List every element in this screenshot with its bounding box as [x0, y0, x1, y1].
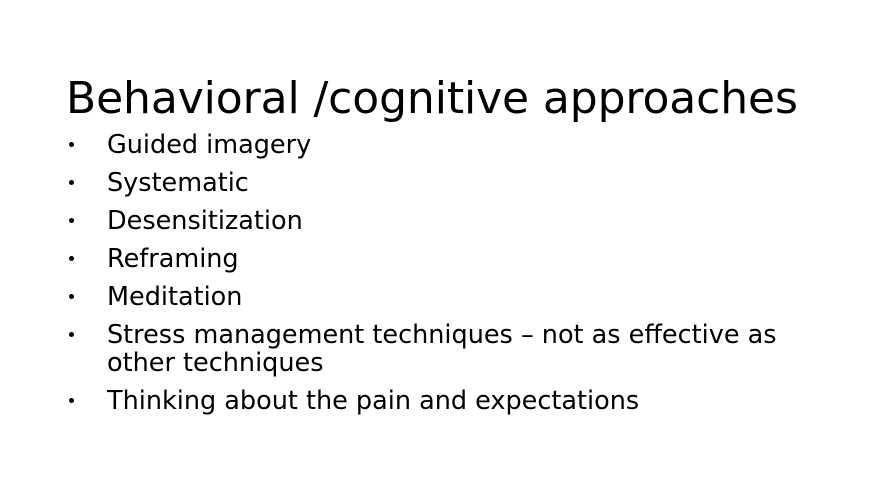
bullet-list-item: Thinking about the pain and expectations: [66, 387, 784, 415]
bullet-item-label: Thinking about the pain and expectations: [107, 387, 784, 415]
bullet-list-item: Reframing: [66, 245, 784, 273]
bullet-dot-icon: [69, 180, 74, 185]
slide-title: Behavioral /cognitive approaches: [66, 73, 826, 125]
bullet-list-item: Desensitization: [66, 207, 784, 235]
bullet-list-item: Guided imagery: [66, 131, 784, 159]
bullet-item-label: Stress management techniques – not as ef…: [107, 321, 784, 377]
bullet-dot-icon: [69, 256, 74, 261]
bullet-dot-icon: [69, 294, 74, 299]
bullet-list-item: Systematic: [66, 169, 784, 197]
bullet-dot-icon: [69, 218, 74, 223]
presentation-slide: Behavioral /cognitive approaches Guided …: [0, 0, 880, 495]
bullet-list-item: Stress management techniques – not as ef…: [66, 321, 784, 377]
bullet-dot-icon: [69, 142, 74, 147]
bullet-item-label: Desensitization: [107, 207, 784, 235]
bullet-item-label: Systematic: [107, 169, 784, 197]
bullet-list: Guided imagery Systematic Desensitizatio…: [66, 131, 784, 415]
bullet-item-label: Guided imagery: [107, 131, 784, 159]
bullet-dot-icon: [69, 398, 74, 403]
bullet-item-label: Reframing: [107, 245, 784, 273]
bullet-item-label: Meditation: [107, 283, 784, 311]
bullet-list-item: Meditation: [66, 283, 784, 311]
bullet-dot-icon: [69, 332, 74, 337]
